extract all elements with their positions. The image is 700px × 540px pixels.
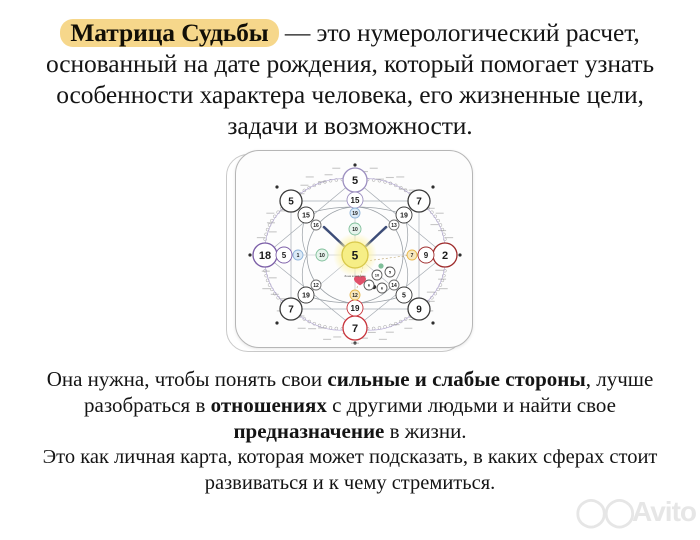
node-value: 10 <box>319 253 325 259</box>
node-value: 15 <box>302 213 310 220</box>
node-value: 12 <box>352 293 358 299</box>
matrix-node-corner-bl-s: 19 <box>298 287 314 303</box>
center-caption: Зона комфорта <box>344 274 366 278</box>
card-inner-frame: 5151929771912185151516719137191295145101… <box>235 150 473 348</box>
mint-marker <box>378 263 383 268</box>
matrix-node-left-sub2: 1 <box>293 250 303 260</box>
matrix-node-bottom: 7 <box>343 316 367 340</box>
node-value: 7 <box>416 197 422 208</box>
matrix-of-destiny-diagram: 5151929771912185151516719137191295145101… <box>236 151 473 348</box>
node-value: 5 <box>352 175 358 187</box>
matrix-node-top: 5 <box>343 168 367 192</box>
matrix-node-left-sub: 5 <box>276 247 292 263</box>
avito-watermark: ◯◯Avito <box>575 495 696 528</box>
intro-paragraph: Матрица Судьбы — это нумерологический ра… <box>30 17 670 141</box>
matrix-node-corner-br-s: 5 <box>396 287 412 303</box>
node-value: 10 <box>375 272 380 277</box>
matrix-node-right-sub2: 7 <box>407 250 417 260</box>
matrix-node-bottom-sub2: 12 <box>350 290 360 300</box>
matrix-node-top-sub: 15 <box>347 192 363 208</box>
node-value: 19 <box>400 213 408 220</box>
matrix-node-corner-bl-s2: 12 <box>311 280 321 290</box>
desc-bold-strengths: сильные и слабые стороны <box>327 367 585 391</box>
node-value: 19 <box>302 293 310 300</box>
matrix-node-inner-up: 10 <box>349 223 361 235</box>
matrix-node-child-c: 6 <box>364 280 374 290</box>
node-value: 15 <box>351 196 360 205</box>
matrix-node-corner-bl: 7 <box>280 298 302 320</box>
node-value: 14 <box>391 283 397 289</box>
node-value: 19 <box>351 304 360 313</box>
matrix-node-right-sub: 9 <box>418 247 434 263</box>
node-value: 12 <box>313 283 319 289</box>
matrix-node-child-a: 10 <box>372 270 382 280</box>
node-value: 2 <box>442 250 448 262</box>
matrix-node-bottom-sub: 19 <box>347 300 363 316</box>
matrix-node-corner-tr: 7 <box>408 190 430 212</box>
poster-page: Матрица Судьбы — это нумерологический ра… <box>0 0 700 540</box>
matrix-node-child-b: 5 <box>385 267 395 277</box>
description-paragraph: Она нужна, чтобы понять свои сильные и с… <box>30 366 670 496</box>
description-part-1: Она нужна, чтобы понять свои сильные и с… <box>30 366 670 444</box>
watermark-text: Avito <box>632 496 696 527</box>
matrix-node-center: 5 <box>342 242 368 268</box>
node-value: 7 <box>352 323 358 335</box>
matrix-node-corner-tl: 5 <box>280 190 302 212</box>
node-value: 18 <box>259 250 271 262</box>
node-value: 1 <box>297 253 300 259</box>
matrix-node-inner-left: 10 <box>316 249 328 261</box>
matrix-node-corner-tl-s: 15 <box>298 207 314 223</box>
node-value: 5 <box>352 248 359 262</box>
desc-text-g: в жизни. <box>384 419 466 443</box>
matrix-node-corner-br-s2: 14 <box>389 280 399 290</box>
matrix-node-corner-tr-s2: 13 <box>389 220 399 230</box>
matrix-node-corner-tr-s: 19 <box>396 207 412 223</box>
desc-bold-relationships: отношениях <box>211 393 327 417</box>
node-value: 16 <box>313 223 319 229</box>
matrix-node-corner-tl-s2: 16 <box>311 220 321 230</box>
node-value: 13 <box>391 223 397 229</box>
matrix-node-corner-br: 9 <box>408 298 430 320</box>
node-value: 5 <box>282 251 287 260</box>
node-value: 5 <box>288 197 294 208</box>
node-value: 7 <box>411 253 414 259</box>
matrix-node-layer: 5151929771912185151516719137191295145101… <box>253 168 457 340</box>
node-value: 9 <box>416 305 422 316</box>
matrix-image-card: 5151929771912185151516719137191295145101… <box>226 150 474 357</box>
matrix-node-left: 18 <box>253 243 277 267</box>
node-value: 7 <box>288 305 294 316</box>
node-value: 10 <box>352 227 358 233</box>
node-value: 9 <box>424 251 429 260</box>
desc-bold-purpose: предназначение <box>233 419 384 443</box>
description-part-2: Это как личная карта, которая может подс… <box>30 444 670 496</box>
highlighted-term: Матрица Судьбы <box>60 19 278 47</box>
matrix-node-child-d: 6 <box>377 283 387 293</box>
watermark-logo-icon: ◯◯ <box>575 496 632 527</box>
matrix-node-right: 2 <box>433 243 457 267</box>
desc-text-e: с другими людьми и найти свое <box>327 393 616 417</box>
node-value: 5 <box>402 293 406 300</box>
node-value: 19 <box>352 211 358 217</box>
desc-text-a: Она нужна, чтобы понять свои <box>47 367 328 391</box>
matrix-node-top-sub2: 19 <box>350 208 360 218</box>
